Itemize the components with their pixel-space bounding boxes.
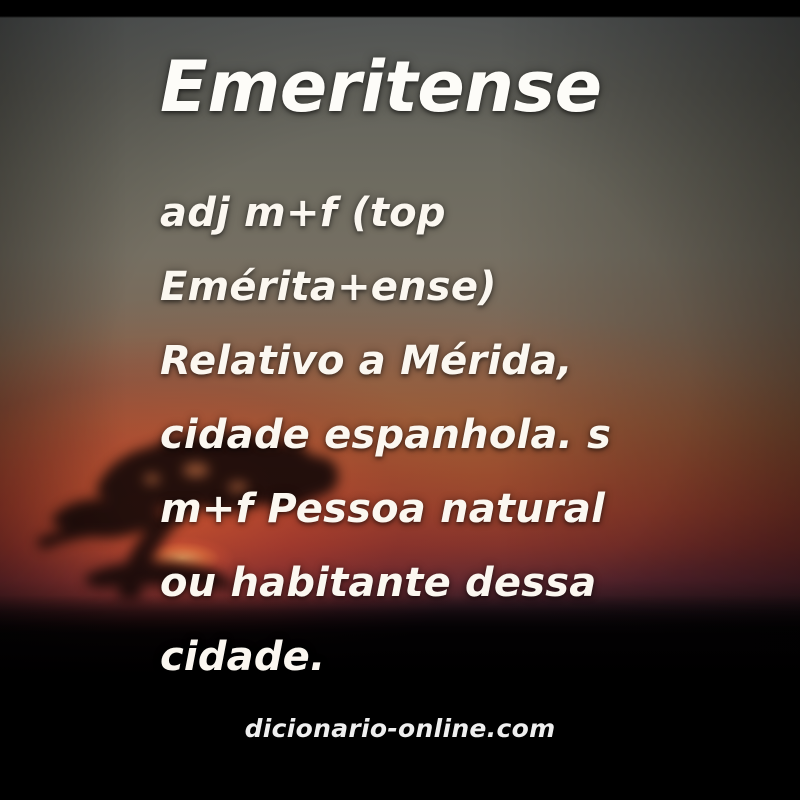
definition-line: cidade espanhola. s	[160, 398, 630, 472]
dictionary-entry-card: Emeritense adj m+f (top Emérita+ense) Re…	[0, 0, 800, 800]
definition-line: cidade.	[160, 620, 630, 694]
source-watermark: dicionario-online.com	[0, 713, 800, 745]
definition-line: Relativo a Mérida,	[160, 324, 630, 398]
definition-line: m+f Pessoa natural	[160, 472, 630, 546]
definition-line: ou habitante dessa	[160, 546, 630, 620]
definition-text: adj m+f (top Emérita+ense) Relativo a Mé…	[160, 176, 630, 694]
definition-line: Emérita+ense)	[160, 250, 630, 324]
definition-line: adj m+f (top	[160, 176, 630, 250]
entry-headword: Emeritense	[160, 52, 760, 122]
